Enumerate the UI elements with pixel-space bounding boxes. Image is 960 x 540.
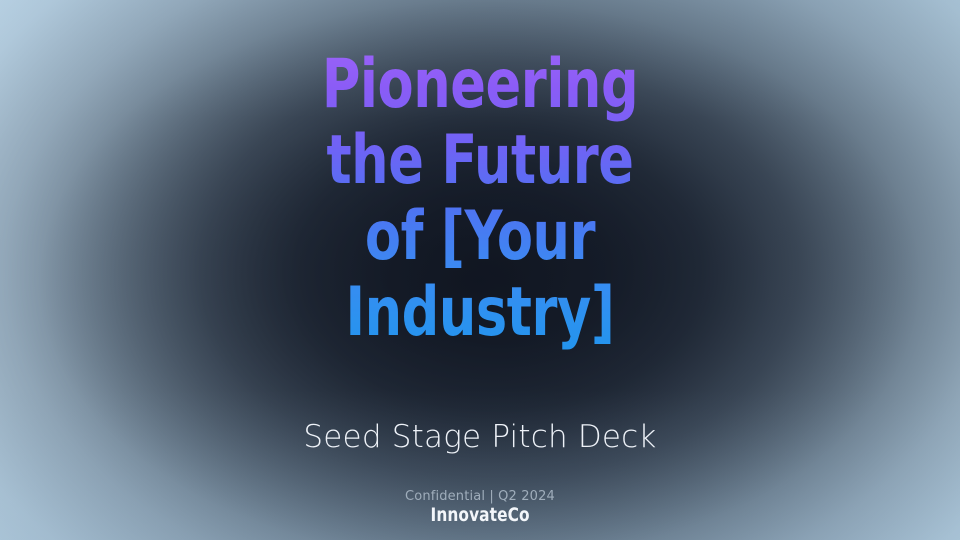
title-slide: Pioneering the Future of [Your Industry]… [0,0,960,540]
slide-subtitle: Seed Stage Pitch Deck [303,419,656,456]
slide-title: Pioneering the Future of [Your Industry] [308,47,652,352]
company-name: InnovateCo [430,504,529,526]
slide-content: Pioneering the Future of [Your Industry]… [0,0,960,540]
